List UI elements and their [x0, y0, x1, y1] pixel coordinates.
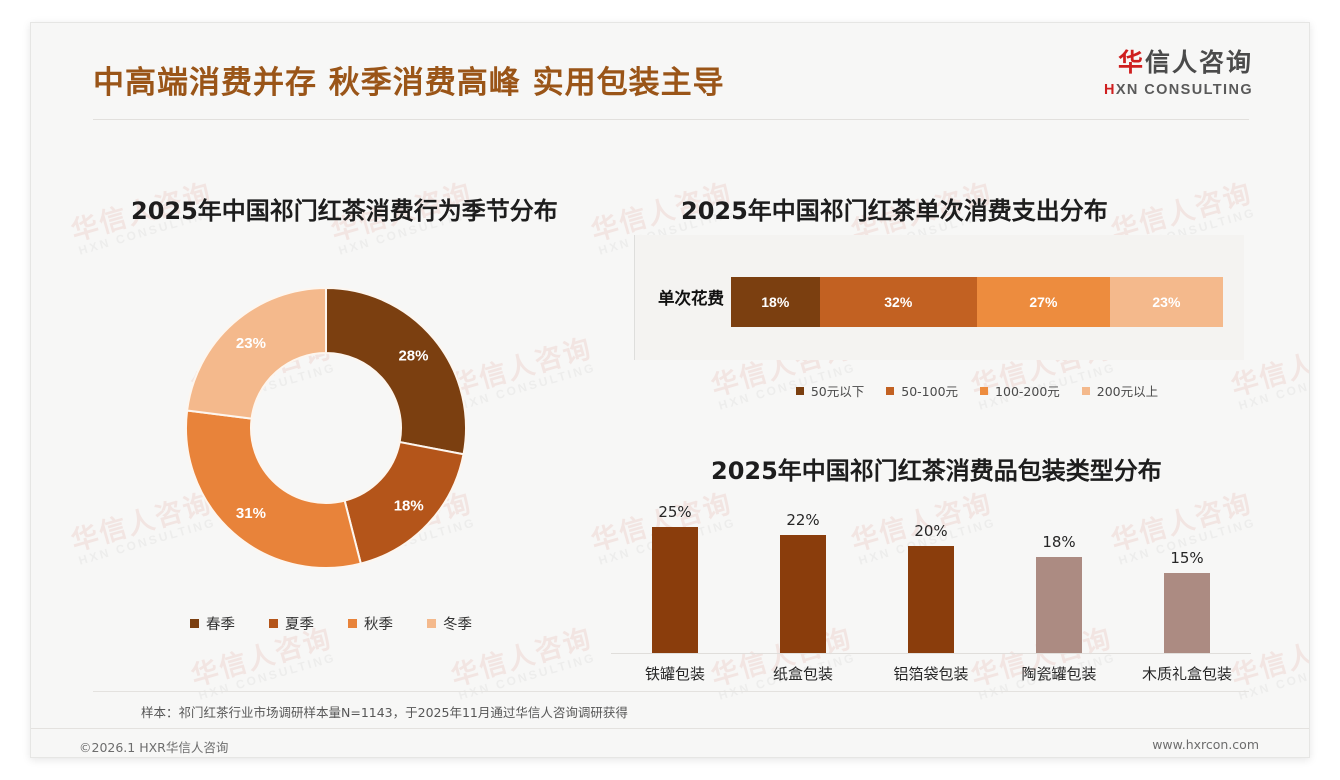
legend-item[interactable]: 100-200元 — [980, 381, 1060, 400]
season-donut-legend: 春季夏季秋季冬季 — [121, 613, 541, 634]
footer-copyright: ©2026.1 HXR华信人咨询 — [79, 737, 228, 756]
spend-stacked-chart: 2025年中国祁门红茶单次消费支出分布 单次花费 18%32%27%23% 50… — [626, 173, 1251, 423]
spend-legend: 50元以下50-100元100-200元200元以上 — [731, 381, 1223, 400]
header-divider — [93, 119, 1249, 120]
logo-en-gray: XN CONSULTING — [1116, 82, 1253, 98]
stacked-segment-label: 18% — [761, 294, 789, 310]
season-donut-graphic: 28%18%31%23% — [176, 278, 476, 578]
legend-label: 100-200元 — [995, 381, 1060, 400]
legend-label: 秋季 — [364, 613, 393, 634]
bar-rect[interactable] — [780, 535, 826, 653]
sample-note: 样本：祁门红茶行业市场调研样本量N=1143，于2025年11月通过华信人咨询调… — [141, 702, 628, 721]
stacked-segment[interactable]: 18% — [731, 277, 820, 327]
legend-swatch — [886, 387, 894, 395]
legend-label: 夏季 — [285, 613, 314, 634]
bar-value-label: 20% — [914, 522, 947, 540]
bar-category-label: 铁罐包装 — [621, 663, 729, 693]
legend-swatch — [980, 387, 988, 395]
stacked-segment[interactable]: 23% — [1110, 277, 1223, 327]
legend-label: 50元以下 — [811, 381, 864, 400]
stacked-segment-label: 32% — [884, 294, 912, 310]
donut-svg: 28%18%31%23% — [176, 278, 476, 578]
legend-item[interactable]: 冬季 — [427, 613, 472, 634]
legend-swatch — [269, 619, 278, 628]
packaging-baseline — [611, 653, 1251, 654]
logo-cn-gray: 信人咨询 — [1145, 49, 1253, 77]
legend-swatch — [427, 619, 436, 628]
legend-label: 春季 — [206, 613, 235, 634]
legend-item[interactable]: 50元以下 — [796, 381, 864, 400]
legend-item[interactable]: 春季 — [190, 613, 235, 634]
slide-canvas: 华信人咨询HXN CONSULTING华信人咨询HXN CONSULTING华信… — [30, 22, 1310, 758]
spend-stacked-bar: 18%32%27%23% — [731, 277, 1223, 327]
stacked-segment-label: 27% — [1029, 294, 1057, 310]
season-donut-title: 2025年中国祁门红茶消费行为季节分布 — [131, 191, 558, 226]
company-logo: 华信人咨询 HXN CONSULTING — [1104, 51, 1253, 98]
bar-value-label: 22% — [786, 511, 819, 529]
donut-slice[interactable] — [186, 410, 361, 568]
legend-label: 50-100元 — [901, 381, 958, 400]
donut-slice[interactable] — [187, 288, 326, 419]
packaging-bar-title: 2025年中国祁门红茶消费品包装类型分布 — [711, 451, 1162, 486]
bar-category-label: 铝箔袋包装 — [877, 663, 985, 693]
legend-label: 200元以上 — [1097, 381, 1158, 400]
donut-slice-label: 23% — [236, 335, 266, 352]
legend-item[interactable]: 200元以上 — [1082, 381, 1158, 400]
bar-value-label: 15% — [1170, 549, 1203, 567]
slide-header: 中高端消费并存 秋季消费高峰 实用包装主导 华信人咨询 HXN CONSULTI… — [31, 23, 1309, 123]
packaging-category-axis: 铁罐包装纸盒包装铝箔袋包装陶瓷罐包装木质礼盒包装 — [611, 663, 1251, 693]
bar-column[interactable]: 15% — [1133, 503, 1241, 653]
logo-cn-red: 华 — [1118, 49, 1145, 77]
spend-stacked-title: 2025年中国祁门红茶单次消费支出分布 — [681, 191, 1108, 226]
logo-en-red: H — [1104, 82, 1116, 98]
legend-swatch — [190, 619, 199, 628]
bar-rect[interactable] — [652, 527, 698, 653]
note-divider — [93, 691, 1249, 692]
stacked-segment[interactable]: 32% — [820, 277, 977, 327]
bar-rect[interactable] — [908, 546, 954, 653]
legend-swatch — [1082, 387, 1090, 395]
bar-category-label: 纸盒包装 — [749, 663, 857, 693]
bar-category-label: 木质礼盒包装 — [1133, 663, 1241, 693]
spend-category-label: 单次花费 — [626, 285, 724, 309]
bar-rect[interactable] — [1036, 557, 1082, 653]
bar-value-label: 18% — [1042, 533, 1075, 551]
stacked-segment[interactable]: 27% — [977, 277, 1110, 327]
logo-english: HXN CONSULTING — [1104, 83, 1253, 98]
bar-column[interactable]: 20% — [877, 503, 985, 653]
donut-slice-label: 28% — [398, 348, 428, 365]
legend-item[interactable]: 秋季 — [348, 613, 393, 634]
legend-swatch — [348, 619, 357, 628]
season-donut-chart: 2025年中国祁门红茶消费行为季节分布 28%18%31%23% 春季夏季秋季冬… — [91, 173, 621, 653]
bar-value-label: 25% — [658, 503, 691, 521]
donut-slice-label: 18% — [394, 498, 424, 515]
bar-category-label: 陶瓷罐包装 — [1005, 663, 1113, 693]
logo-chinese: 华信人咨询 — [1104, 51, 1253, 76]
stacked-segment-label: 23% — [1152, 294, 1180, 310]
bar-column[interactable]: 18% — [1005, 503, 1113, 653]
packaging-bar-chart: 2025年中国祁门红茶消费品包装类型分布 25%22%20%18%15% 铁罐包… — [591, 441, 1271, 711]
donut-slice-label: 31% — [236, 505, 266, 522]
legend-item[interactable]: 夏季 — [269, 613, 314, 634]
legend-swatch — [796, 387, 804, 395]
bar-rect[interactable] — [1164, 573, 1210, 653]
donut-slice[interactable] — [326, 288, 466, 454]
slide-footer: ©2026.1 HXR华信人咨询 www.hxrcon.com — [31, 729, 1309, 758]
legend-item[interactable]: 50-100元 — [886, 381, 958, 400]
footer-website: www.hxrcon.com — [1152, 737, 1259, 752]
page-title: 中高端消费并存 秋季消费高峰 实用包装主导 — [93, 57, 725, 102]
packaging-bars-area: 25%22%20%18%15% — [611, 503, 1251, 653]
bar-column[interactable]: 25% — [621, 503, 729, 653]
legend-label: 冬季 — [443, 613, 472, 634]
bar-column[interactable]: 22% — [749, 503, 857, 653]
